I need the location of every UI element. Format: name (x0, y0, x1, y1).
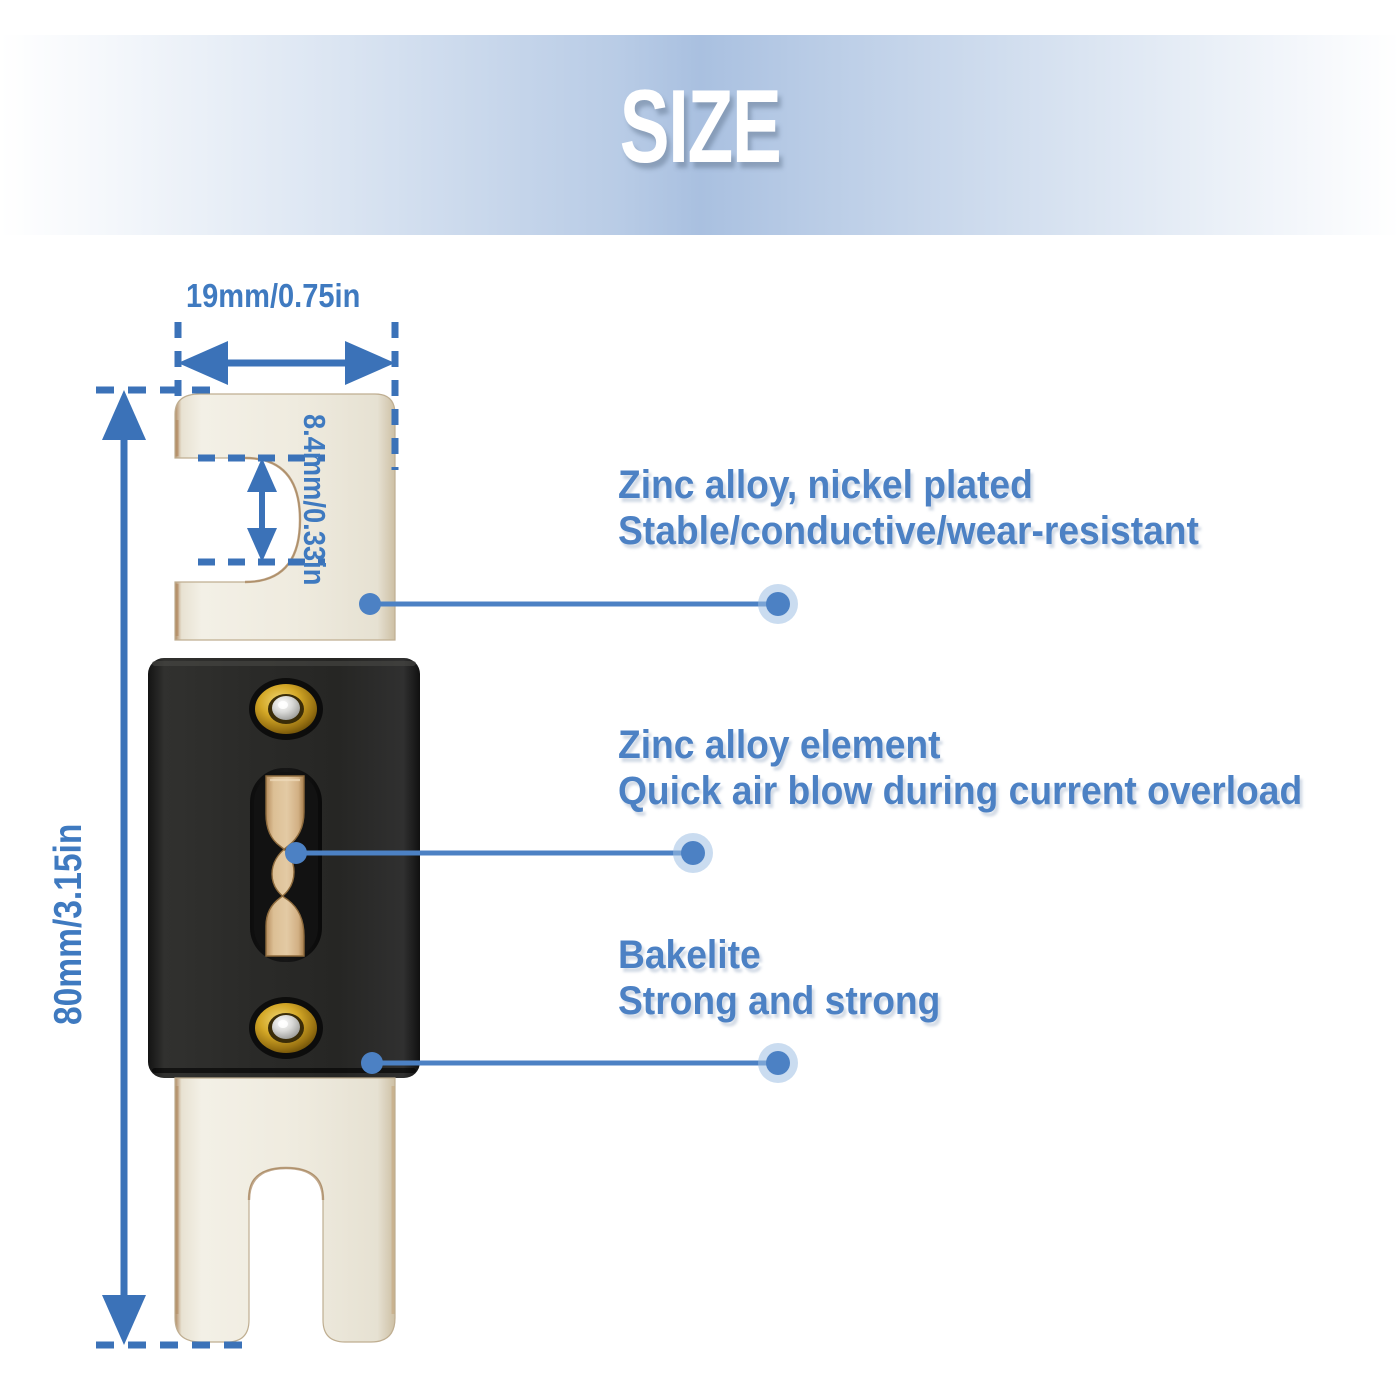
callout-line-1: Zinc alloy element (618, 722, 1302, 768)
callout-line-2: Quick air blow during current overload (618, 768, 1302, 814)
element-window (250, 768, 322, 962)
fuse-body (148, 658, 420, 1078)
width-dimension (178, 322, 395, 396)
fuse-element (266, 776, 304, 956)
callout-line-2: Stable/conductive/wear-resistant (618, 508, 1199, 554)
callout-element-material: Zinc alloy element Quick air blow during… (618, 722, 1302, 815)
leader-line-element (285, 833, 713, 873)
callout-line-1: Bakelite (618, 932, 940, 978)
bottom-terminal-blade (175, 1078, 395, 1342)
leader-line-body (361, 1043, 798, 1083)
top-terminal-blade (175, 394, 395, 640)
width-dimension-label: 19mm/0.75in (186, 277, 360, 315)
infographic-page: SIZE (0, 0, 1400, 1400)
bottom-eyelet (249, 997, 323, 1059)
slot-dimension-label: 8.4mm/0.33in (296, 414, 332, 585)
leader-line-blade (359, 584, 798, 624)
height-dimension-label: 80mm/3.15in (47, 824, 91, 1025)
callout-body-material: Bakelite Strong and strong (618, 932, 940, 1025)
page-title: SIZE (196, 75, 1204, 179)
callout-terminal-material: Zinc alloy, nickel plated Stable/conduct… (618, 462, 1199, 555)
callout-line-1: Zinc alloy, nickel plated (618, 462, 1199, 508)
top-eyelet (249, 678, 323, 740)
height-dimension (96, 390, 250, 1345)
callout-line-2: Strong and strong (618, 978, 940, 1024)
